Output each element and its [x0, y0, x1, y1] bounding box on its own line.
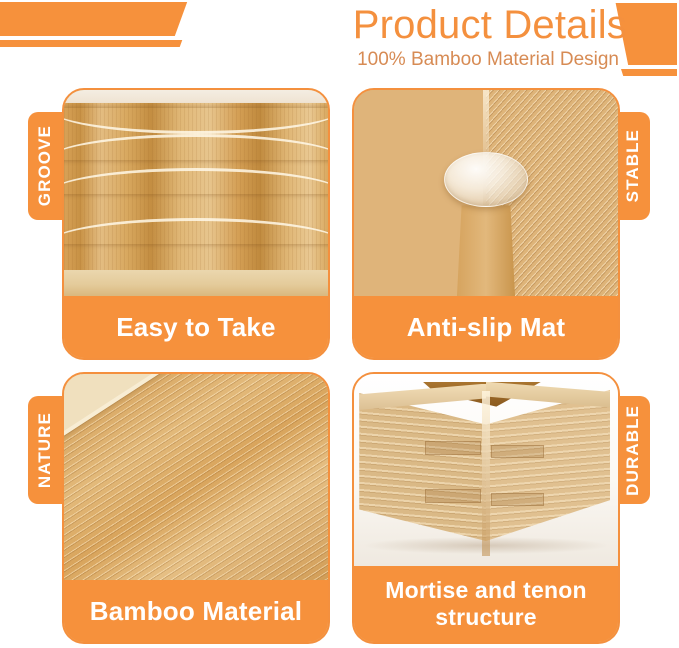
feature-tab-nature: NATURE — [28, 396, 62, 504]
tenon-joint-3 — [491, 445, 544, 458]
box-corner-edge-highlight — [482, 391, 490, 556]
header: Product Details 100% Bamboo Material Des… — [0, 0, 679, 86]
feature-card-groove: Easy to Take — [62, 88, 330, 360]
bamboo-corner-with-clear-silicone-pad-image — [354, 90, 618, 296]
feature-tab-stable: STABLE — [616, 112, 650, 220]
feature-card-groove-caption: Easy to Take — [64, 296, 328, 358]
feature-tab-nature-label: NATURE — [35, 412, 55, 488]
feature-card-bamboo-material: Bamboo Material — [62, 372, 330, 644]
feature-tab-durable: DURABLE — [616, 396, 650, 504]
header-right-thin-decoration — [621, 69, 677, 76]
bamboo-box-corner-joinery-image — [354, 374, 618, 566]
feature-tab-durable-label: DURABLE — [623, 405, 643, 496]
feature-card-anti-slip-mat: Anti-slip Mat — [352, 88, 620, 360]
feature-tab-groove-label: GROOVE — [35, 125, 55, 206]
page-subtitle: 100% Bamboo Material Design — [0, 48, 619, 72]
tenon-joint-2 — [425, 489, 480, 502]
product-details-infographic: Product Details 100% Bamboo Material Des… — [0, 0, 679, 648]
feature-card-anti-slip-mat-caption: Anti-slip Mat — [354, 296, 618, 358]
page-title: Product Details — [0, 2, 627, 48]
corner-vertical-post — [457, 205, 515, 296]
tenon-joint-4 — [491, 493, 544, 506]
anti-slip-mat-pad — [444, 152, 528, 208]
feature-tab-stable-label: STABLE — [623, 129, 643, 202]
diagonal-bamboo-grain-planks-image — [64, 374, 328, 580]
bamboo-board-with-wavy-grooves-image — [64, 90, 328, 296]
feature-card-mortise-tenon: Mortise and tenon structure — [352, 372, 620, 644]
board-bottom-edge — [64, 270, 328, 296]
feature-card-bamboo-material-caption: Bamboo Material — [64, 580, 328, 642]
board-top-edge — [64, 90, 328, 103]
feature-card-mortise-tenon-caption: Mortise and tenon structure — [354, 566, 618, 642]
feature-tab-groove: GROOVE — [28, 112, 62, 220]
tenon-joint-1 — [425, 441, 480, 454]
